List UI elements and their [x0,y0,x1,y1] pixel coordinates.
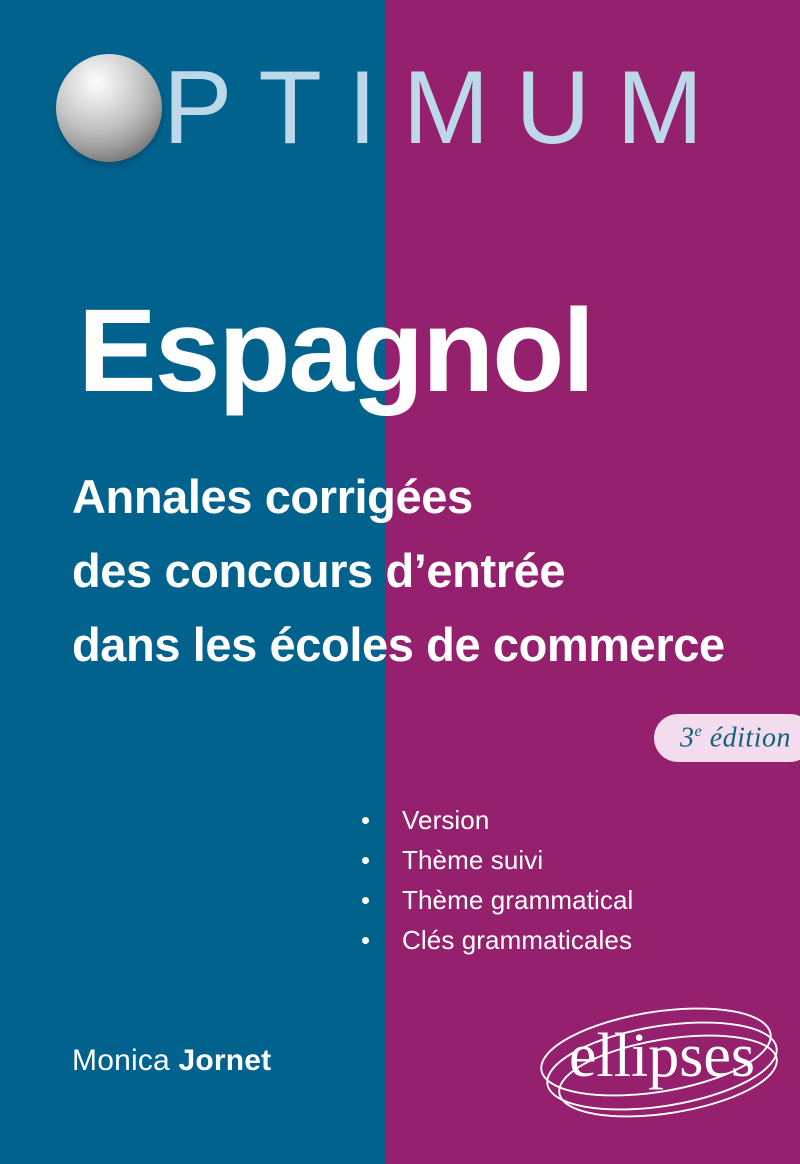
subtitle-line-2: des concours d’entrée [72,534,792,608]
edition-word: édition [702,722,791,753]
list-item: Version [360,800,760,840]
author-last-name: Jornet [178,1044,271,1077]
feature-list: Version Thème suivi Thème grammatical Cl… [360,800,760,960]
author-name: Monica Jornet [72,1044,271,1078]
series-wordmark: PTIMUM [163,50,729,166]
edition-label: 3e édition [680,722,791,754]
list-item: Thème grammatical [360,880,760,920]
subtitle-line-1: Annales corrigées [72,460,792,534]
bullet-icon [362,857,369,864]
publisher-name: ellipses [569,1022,755,1090]
edition-number: 3 [680,722,695,753]
author-first-name: Monica [72,1044,170,1077]
subtitle-line-3: dans les écoles de commerce [72,608,792,682]
bullet-icon [362,817,369,824]
book-cover: PTIMUM Espagnol Annales corrigées des co… [0,0,800,1164]
feature-label: Thème grammatical [402,885,633,916]
ellipses-logo-icon: ellipses [538,1002,786,1122]
feature-label: Thème suivi [402,845,543,876]
subtitle-block: Annales corrigées des concours d’entrée … [72,460,792,682]
list-item: Clés grammaticales [360,920,760,960]
feature-label: Version [402,805,489,836]
bullet-icon [362,897,369,904]
bullet-icon [362,937,369,944]
edition-badge: 3e édition [654,714,800,762]
page-title: Espagnol [78,292,593,410]
list-item: Thème suivi [360,840,760,880]
feature-label: Clés grammaticales [402,925,632,956]
sphere-o-icon [56,54,162,162]
series-banner: PTIMUM [0,0,800,200]
